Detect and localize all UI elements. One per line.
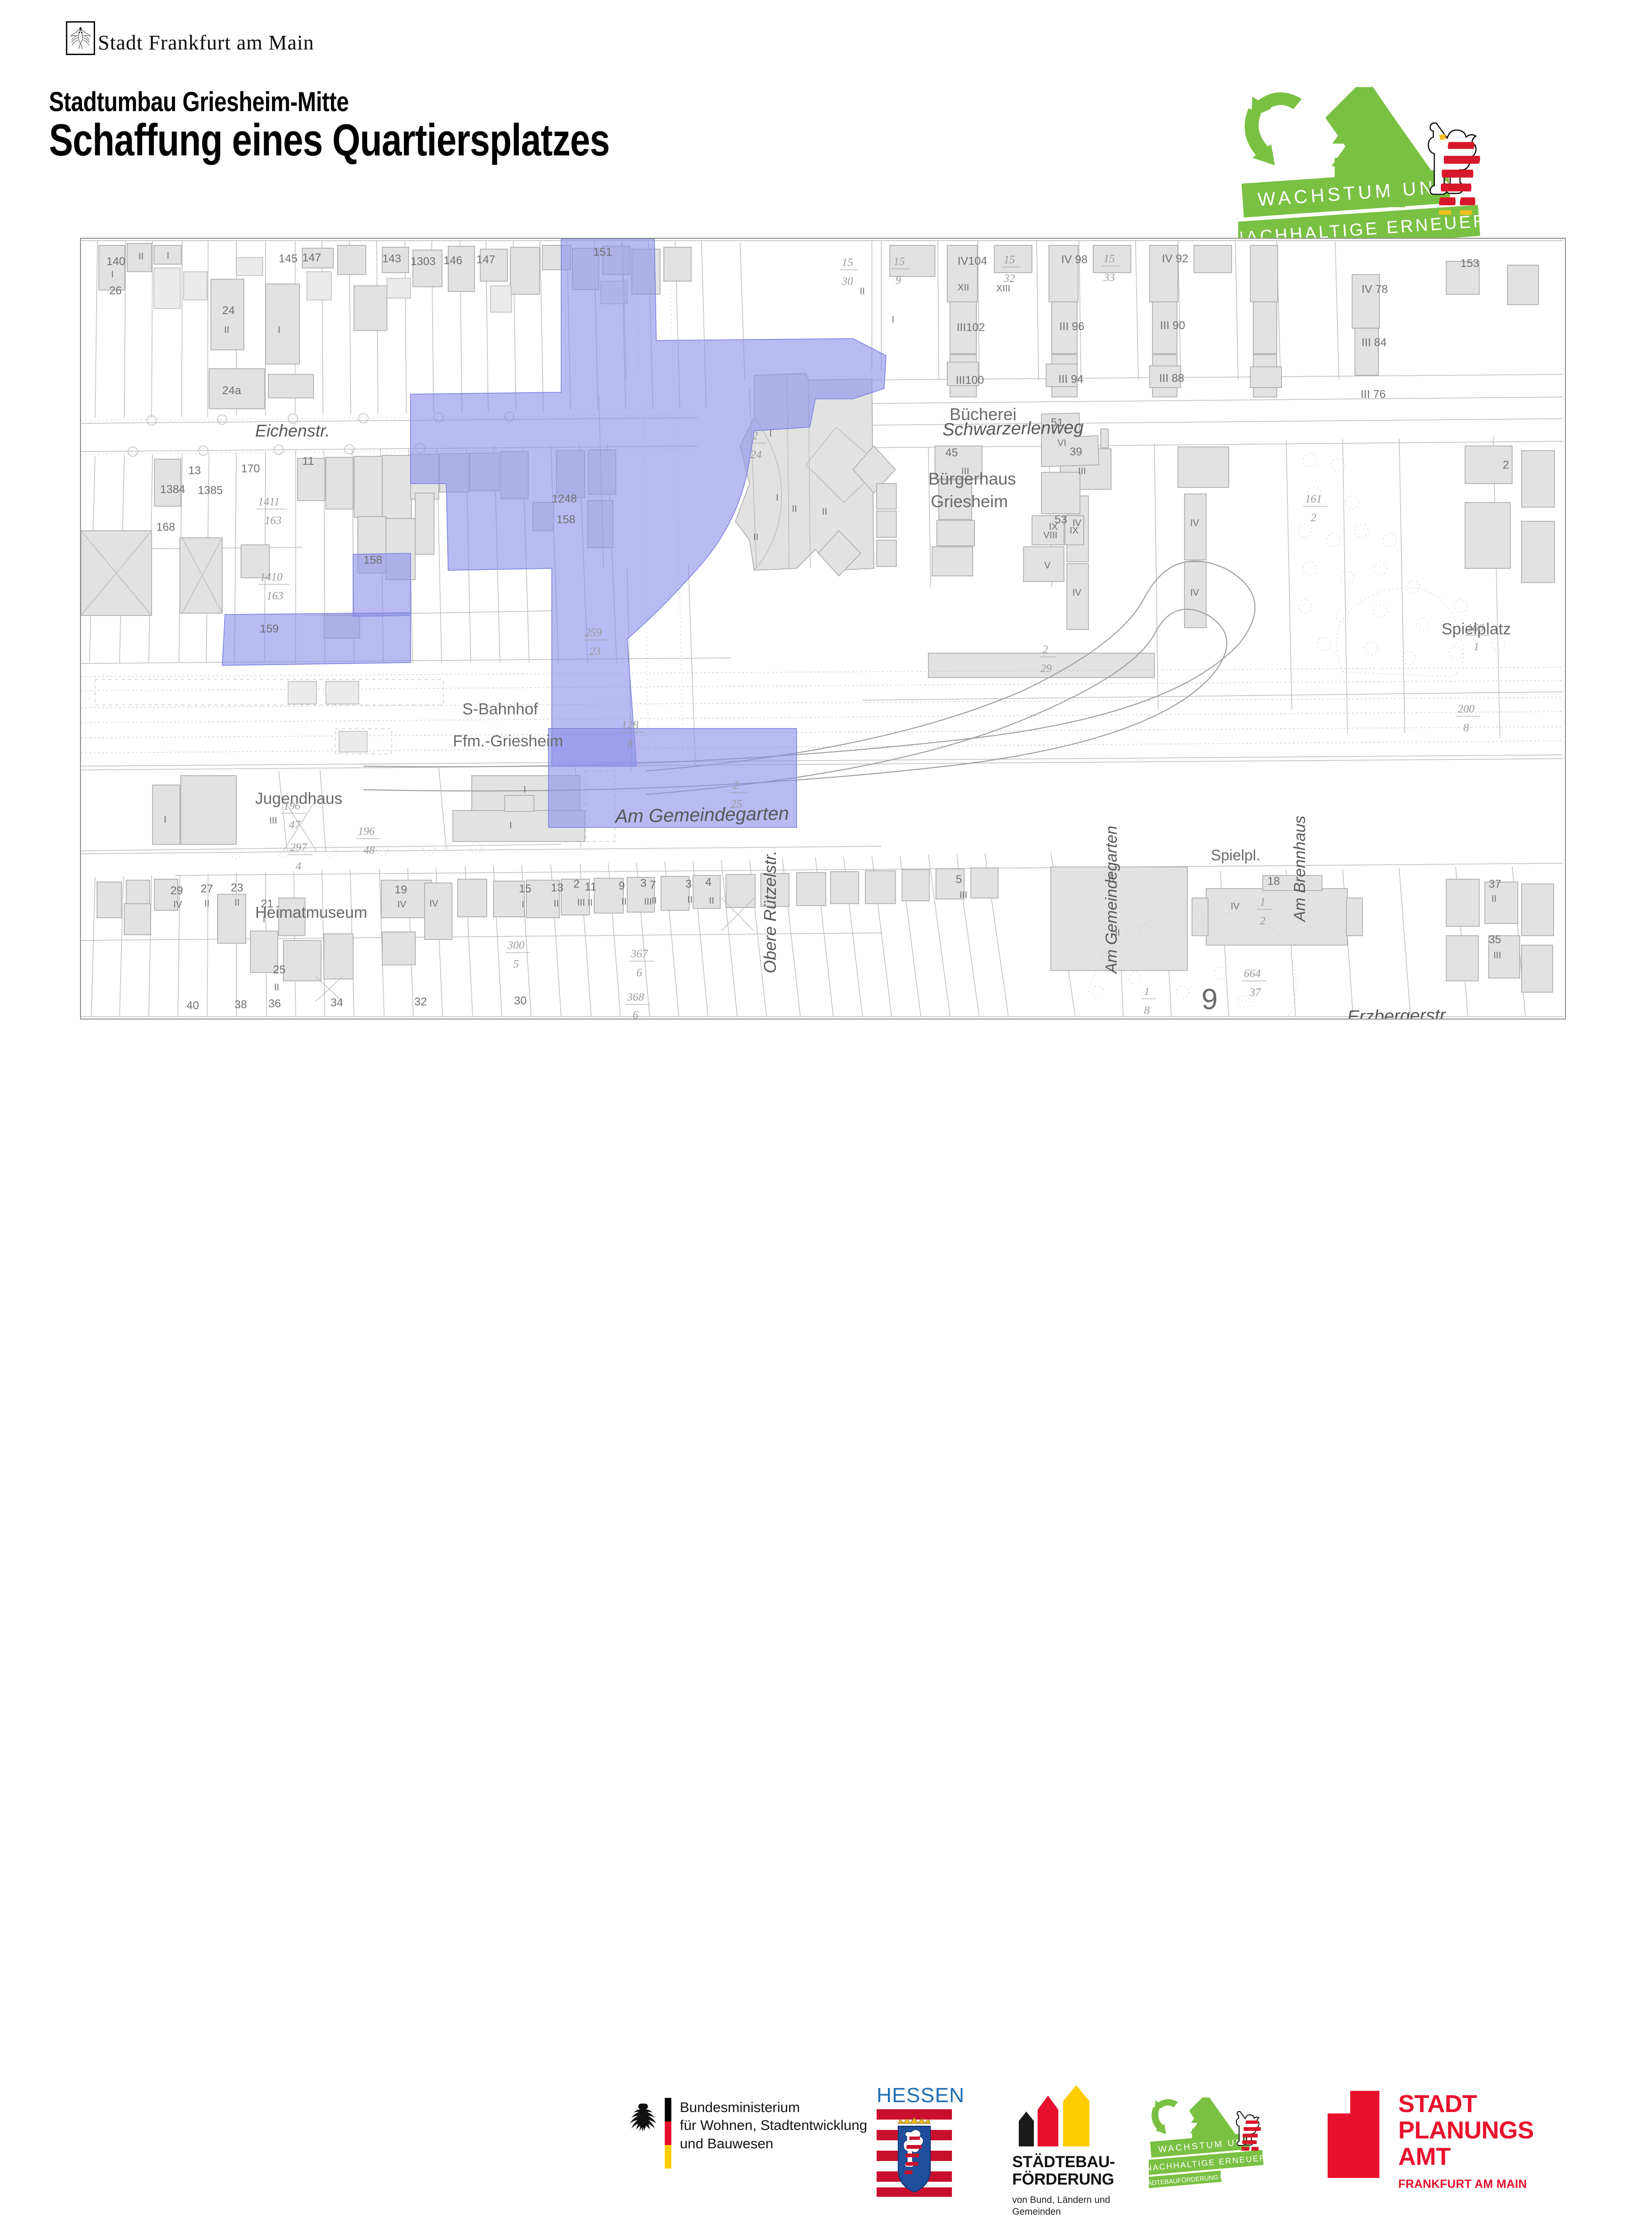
svg-text:1: 1 — [1474, 641, 1479, 653]
svg-text:V: V — [1044, 560, 1051, 571]
svg-text:IV 78: IV 78 — [1362, 283, 1388, 296]
spa-line4: FRANKFURT AM MAIN — [1398, 2178, 1534, 2191]
svg-text:147: 147 — [476, 253, 495, 266]
stadtplanungsamt-text: STADT PLANUNGS AMT FRANKFURT AM MAIN — [1398, 2091, 1534, 2191]
svg-text:I: I — [263, 915, 266, 925]
svg-text:140: 140 — [106, 255, 125, 268]
svg-text:11: 11 — [585, 881, 596, 893]
svg-text:29: 29 — [170, 884, 183, 897]
svg-text:51: 51 — [1051, 416, 1064, 429]
svg-text:2: 2 — [1260, 915, 1265, 927]
svg-text:II: II — [709, 896, 714, 906]
svg-text:24: 24 — [222, 304, 235, 317]
svg-text:VI: VI — [1057, 438, 1066, 448]
svg-text:1248: 1248 — [552, 493, 577, 505]
german-flag-bar — [665, 2098, 671, 2169]
svg-text:2: 2 — [733, 779, 738, 792]
svg-text:18: 18 — [1267, 875, 1280, 888]
svg-text:2: 2 — [1042, 644, 1048, 656]
bmwsb-line1: Bundesministerium — [680, 2099, 867, 2117]
svg-text:IV: IV — [1190, 588, 1200, 598]
svg-text:II: II — [822, 507, 827, 517]
svg-text:6: 6 — [633, 1009, 638, 1019]
bmwsb-text: Bundesministerium für Wohnen, Stadtentwi… — [680, 2099, 867, 2153]
svg-text:II: II — [138, 251, 144, 262]
svg-text:33: 33 — [1103, 272, 1115, 284]
svg-text:III 96: III 96 — [1059, 320, 1084, 333]
svg-text:1303: 1303 — [411, 255, 435, 268]
svg-text:36: 36 — [268, 997, 281, 1010]
svg-text:27: 27 — [201, 882, 213, 895]
svg-text:13: 13 — [551, 882, 564, 894]
svg-text:37: 37 — [1249, 987, 1261, 999]
svg-text:200: 200 — [1458, 703, 1475, 715]
svg-text:IV: IV — [1072, 588, 1082, 598]
svg-text:15: 15 — [842, 257, 853, 269]
svg-text:40: 40 — [186, 999, 199, 1012]
svg-text:6: 6 — [637, 967, 642, 979]
svg-text:37: 37 — [1489, 878, 1501, 890]
svg-text:III: III — [577, 898, 585, 908]
bundesministerium-logo: Bundesministerium für Wohnen, Stadtentwi… — [626, 2093, 867, 2169]
svg-text:259: 259 — [585, 627, 602, 639]
svg-text:47: 47 — [289, 819, 301, 831]
svg-text:II: II — [1491, 894, 1497, 904]
svg-text:S-Bahnhof: S-Bahnhof — [462, 700, 538, 718]
svg-text:I: I — [111, 269, 114, 280]
svg-text:664: 664 — [1244, 968, 1261, 980]
svg-text:IV: IV — [1231, 901, 1240, 912]
svg-text:170: 170 — [241, 462, 260, 475]
svg-text:15: 15 — [1004, 254, 1015, 266]
svg-text:297: 297 — [290, 842, 307, 854]
svg-text:III: III — [644, 897, 652, 907]
staedtebaufoerderung-subtitle: von Bund, Ländern und Gemeinden — [1012, 2194, 1125, 2218]
stfoerd-sub1: von Bund, Ländern und — [1012, 2194, 1125, 2206]
svg-text:II: II — [204, 899, 210, 909]
svg-text:III100: III100 — [956, 374, 984, 387]
svg-text:8: 8 — [627, 738, 633, 750]
staedtebaufoerderung-title: STÄDTEBAU- FÖRDERUNG — [1012, 2153, 1125, 2189]
svg-text:Am Gemeindegarten: Am Gemeindegarten — [1103, 826, 1120, 974]
bmwsb-line3: und Bauwesen — [680, 2135, 867, 2153]
svg-text:6: 6 — [1108, 872, 1114, 885]
svg-text:II: II — [224, 325, 229, 335]
svg-text:III: III — [269, 816, 277, 826]
svg-text:III: III — [1493, 950, 1501, 961]
svg-text:30: 30 — [514, 995, 527, 1007]
svg-text:25: 25 — [731, 798, 742, 810]
svg-text:8: 8 — [1463, 722, 1469, 734]
svg-text:Am Brennhaus: Am Brennhaus — [1291, 816, 1309, 923]
svg-text:158: 158 — [363, 554, 382, 567]
svg-text:1384: 1384 — [160, 483, 185, 496]
svg-text:1385: 1385 — [198, 484, 223, 497]
svg-text:15: 15 — [519, 882, 532, 895]
page-subtitle: Stadtumbau Griesheim-Mitte — [49, 86, 349, 118]
svg-text:163: 163 — [265, 515, 282, 527]
svg-text:3: 3 — [685, 878, 692, 890]
svg-text:143: 143 — [382, 252, 401, 265]
spa-line2: PLANUNGS — [1398, 2117, 1534, 2144]
svg-text:IV: IV — [397, 899, 407, 910]
highlight-parcel-159-2 — [222, 613, 411, 665]
svg-text:Griesheim: Griesheim — [931, 492, 1008, 511]
svg-text:IV: IV — [429, 899, 439, 909]
svg-text:9: 9 — [895, 275, 901, 287]
stfoerd-sub2: Gemeinden — [1012, 2206, 1125, 2218]
svg-text:196: 196 — [283, 800, 300, 812]
svg-text:24a: 24a — [222, 384, 242, 397]
svg-text:2: 2 — [752, 430, 758, 442]
svg-text:I: I — [776, 493, 779, 503]
svg-text:146: 146 — [443, 254, 462, 267]
svg-text:13: 13 — [188, 464, 201, 477]
svg-text:15: 15 — [894, 256, 905, 268]
svg-text:21: 21 — [261, 898, 274, 910]
svg-text:I: I — [509, 820, 512, 831]
svg-text:Obere Rützelstr.: Obere Rützelstr. — [760, 850, 780, 973]
svg-text:153: 153 — [1460, 257, 1479, 270]
city-logo: Stadt Frankfurt am Main — [66, 21, 314, 55]
svg-text:II: II — [687, 895, 693, 905]
svg-text:III 84: III 84 — [1362, 336, 1386, 349]
svg-text:166: 166 — [1467, 622, 1484, 634]
svg-text:300: 300 — [507, 939, 524, 952]
svg-text:II: II — [554, 899, 559, 909]
svg-text:7: 7 — [650, 879, 656, 891]
svg-text:24: 24 — [750, 449, 762, 461]
svg-text:161: 161 — [1305, 493, 1322, 505]
svg-text:III 88: III 88 — [1159, 372, 1184, 385]
svg-text:145: 145 — [279, 252, 298, 265]
svg-text:XII: XII — [958, 283, 969, 293]
svg-text:8: 8 — [1144, 1004, 1150, 1017]
svg-text:30: 30 — [841, 275, 853, 288]
city-logo-text: Stadt Frankfurt am Main — [98, 32, 314, 55]
hessen-label: HESSEN — [877, 2084, 971, 2107]
svg-text:VIII: VIII — [1043, 530, 1057, 541]
svg-text:2: 2 — [1311, 512, 1316, 524]
svg-text:25: 25 — [273, 963, 286, 976]
svg-text:159: 159 — [260, 623, 279, 635]
svg-text:II: II — [274, 982, 279, 993]
svg-text:11: 11 — [302, 455, 314, 468]
svg-text:I: I — [892, 315, 894, 325]
cadastral-map[interactable]: Eichenstr. Schwarzerlenweg Am Gemeindega… — [80, 238, 1566, 1020]
svg-text:IV: IV — [173, 899, 183, 910]
svg-text:III 76: III 76 — [1361, 388, 1386, 401]
svg-text:Bücherei: Bücherei — [950, 405, 1016, 424]
svg-text:I: I — [167, 251, 169, 261]
stadtplanungsamt-mark-icon — [1328, 2091, 1379, 2178]
svg-text:III102: III102 — [957, 321, 985, 334]
svg-text:IV 98: IV 98 — [1061, 253, 1088, 266]
spa-line3: AMT — [1398, 2144, 1534, 2170]
svg-text:15: 15 — [1104, 253, 1115, 265]
svg-text:5: 5 — [513, 958, 519, 971]
svg-text:1: 1 — [1144, 986, 1150, 998]
page-header: Stadt Frankfurt am Main Stadtumbau Gries… — [0, 0, 1652, 235]
wachstum-erneuerung-logo-small: WACHSTUM UND NACHHALTIGE ERNEUERUNG STÄD… — [1149, 2095, 1290, 2196]
svg-text:19: 19 — [395, 883, 407, 896]
svg-text:48: 48 — [363, 844, 375, 857]
svg-text:32: 32 — [414, 996, 427, 1008]
svg-text:4: 4 — [296, 860, 301, 873]
federal-eagle-icon — [626, 2101, 656, 2137]
svg-text:39: 39 — [1070, 445, 1082, 458]
svg-text:II: II — [588, 898, 593, 908]
svg-text:2: 2 — [573, 878, 580, 890]
svg-text:38: 38 — [234, 998, 247, 1011]
svg-text:I: I — [278, 325, 281, 335]
svg-text:367: 367 — [630, 948, 648, 960]
footer-logo-strip: Bundesministerium für Wohnen, Stadtentwi… — [0, 1036, 1652, 1168]
svg-text:IV104: IV104 — [958, 255, 987, 267]
hessen-coat-of-arms-icon — [877, 2109, 952, 2197]
svg-text:Spielpl.: Spielpl. — [1211, 847, 1260, 864]
svg-text:I: I — [164, 815, 167, 825]
svg-text:1411: 1411 — [258, 496, 280, 508]
svg-text:III: III — [959, 890, 967, 900]
svg-text:I: I — [522, 899, 524, 910]
stfoerd-line2: FÖRDERUNG — [1012, 2171, 1125, 2188]
svg-text:Eichenstr.: Eichenstr. — [255, 421, 330, 440]
svg-text:II: II — [621, 897, 627, 907]
svg-text:5: 5 — [956, 873, 962, 886]
hessen-logo: HESSEN — [877, 2084, 971, 2199]
svg-text:147: 147 — [302, 251, 321, 264]
svg-text:35: 35 — [1489, 933, 1501, 946]
svg-text:Bürgerhaus: Bürgerhaus — [928, 469, 1016, 488]
svg-text:III 90: III 90 — [1160, 319, 1185, 332]
svg-text:151: 151 — [593, 246, 612, 259]
svg-text:2: 2 — [1503, 459, 1509, 471]
svg-text:128: 128 — [621, 719, 638, 731]
svg-text:3: 3 — [640, 877, 646, 890]
svg-text:IV: IV — [1072, 518, 1082, 528]
svg-text:Am Gemeindegarten: Am Gemeindegarten — [614, 803, 789, 827]
svg-text:9: 9 — [1201, 983, 1217, 1016]
svg-text:29: 29 — [1040, 663, 1052, 675]
stfoerd-line1: STÄDTEBAU- — [1012, 2153, 1125, 2171]
svg-text:196: 196 — [358, 826, 375, 838]
staedtebaufoerderung-logo: STÄDTEBAU- FÖRDERUNG von Bund, Ländern u… — [1012, 2085, 1125, 2218]
svg-text:IV 92: IV 92 — [1162, 252, 1188, 265]
svg-text:163: 163 — [266, 590, 283, 602]
svg-text:III: III — [1078, 466, 1086, 477]
bmwsb-line2: für Wohnen, Stadtentwicklung — [680, 2117, 867, 2135]
svg-text:I: I — [769, 429, 772, 439]
svg-text:1: 1 — [1260, 896, 1265, 908]
svg-text:II: II — [792, 504, 797, 514]
svg-text:368: 368 — [627, 991, 644, 1004]
svg-text:158: 158 — [556, 513, 575, 526]
spa-line1: STADT — [1398, 2091, 1534, 2117]
svg-text:II: II — [753, 532, 758, 542]
svg-text:II: II — [1115, 928, 1120, 938]
svg-text:26: 26 — [109, 284, 122, 297]
svg-text:168: 168 — [156, 521, 175, 534]
page-title: Schaffung eines Quartiersplatzes — [49, 114, 610, 166]
svg-text:45: 45 — [945, 446, 958, 459]
svg-text:9: 9 — [619, 880, 625, 892]
svg-text:Ffm.-Griesheim: Ffm.-Griesheim — [453, 732, 563, 750]
svg-text:4: 4 — [705, 876, 711, 889]
svg-text:34: 34 — [330, 996, 343, 1009]
svg-text:III: III — [961, 466, 969, 477]
svg-text:23: 23 — [589, 646, 601, 658]
svg-text:II: II — [860, 286, 865, 297]
frankfurt-eagle-crest-icon — [66, 21, 95, 55]
stadtplanungsamt-logo: STADT PLANUNGS AMT FRANKFURT AM MAIN — [1328, 2091, 1534, 2191]
svg-text:23: 23 — [231, 882, 243, 894]
svg-text:III 94: III 94 — [1058, 373, 1083, 386]
svg-text:XIII: XIII — [996, 283, 1010, 294]
svg-text:1410: 1410 — [260, 571, 282, 583]
three-houses-icon — [1012, 2085, 1097, 2146]
svg-text:II: II — [234, 898, 240, 908]
svg-text:IV: IV — [1190, 518, 1200, 528]
svg-text:I: I — [524, 785, 526, 795]
svg-text:II: II — [652, 896, 657, 906]
svg-text:Erzbergerstr.: Erzbergerstr. — [1347, 1005, 1450, 1019]
